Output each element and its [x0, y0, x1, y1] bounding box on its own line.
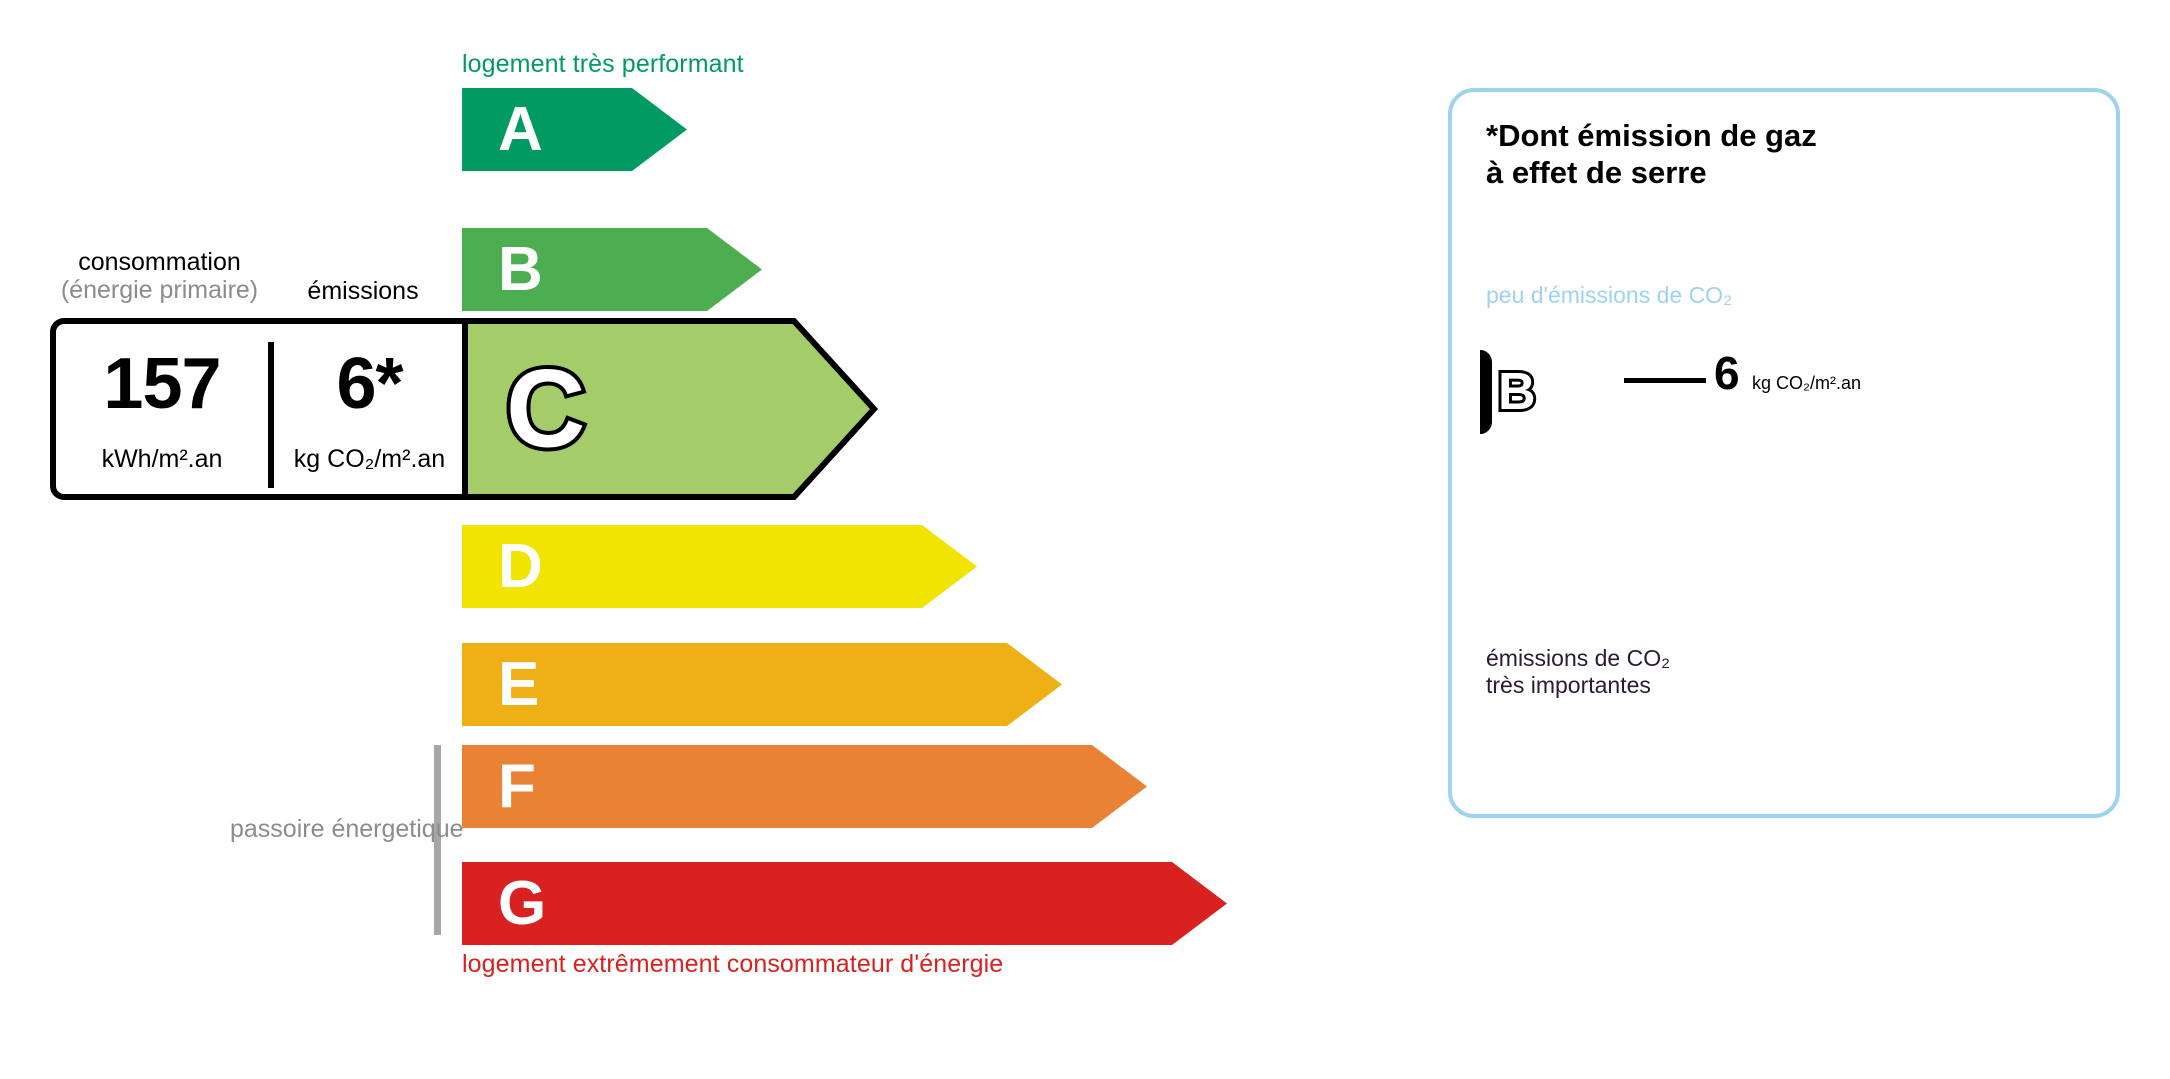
co2-class-bar-g: G	[1486, 602, 1858, 646]
passoire-label: passoire énergetique	[230, 815, 415, 843]
energy-class-letter-e: E	[498, 654, 539, 716]
emission-value-cell: 6* kg CO₂/m².an	[268, 324, 471, 494]
energy-class-letter-f: F	[498, 756, 536, 818]
co2-class-letter-g: G	[1498, 607, 1524, 641]
co2-panel-title: *Dont émission de gaz à effet de serre	[1486, 118, 1817, 191]
current-class-letter: C	[506, 346, 585, 473]
value-box: 157 kWh/m².an 6* kg CO₂/m².an	[50, 318, 465, 500]
co2-class-bar-e: E	[1486, 506, 1774, 550]
co2-class-bar-f: F	[1486, 554, 1816, 598]
energy-class-bar-a: A	[462, 88, 687, 171]
co2-class-bar-c: C	[1486, 410, 1682, 454]
co2-top-label: peu d'émissions de CO₂	[1486, 282, 1732, 309]
arrow-shape-icon	[462, 745, 1147, 828]
scale-top-label: logement très performant	[462, 50, 744, 79]
consumption-header-sub: (énergie primaire)	[52, 276, 267, 304]
co2-class-letter-e: E	[1498, 511, 1521, 545]
energy-class-bar-b: B	[462, 228, 762, 311]
arrow-shape-icon	[462, 862, 1227, 945]
energy-class-bar-g: G	[462, 862, 1227, 945]
arrow-shape-icon	[462, 88, 687, 171]
consumption-unit: kWh/m².an	[56, 447, 268, 472]
emission-unit: kg CO₂/m².an	[268, 447, 471, 472]
co2-class-letter-c: C	[1498, 415, 1523, 449]
energy-class-bar-d: D	[462, 525, 977, 608]
energy-class-letter-b: B	[498, 239, 543, 301]
co2-leader-line	[1624, 378, 1706, 383]
current-class-row: 157 kWh/m².an 6* kg CO₂/m².an C	[50, 318, 880, 500]
consumption-header-main: consommation	[78, 248, 241, 276]
co2-emissions-panel: *Dont émission de gaz à effet de serre p…	[1448, 88, 2120, 818]
scale-bottom-label: logement extrêmement consommateur d'éner…	[462, 950, 1003, 979]
current-class-arrow: C	[462, 318, 880, 500]
energy-performance-scale: logement très performant ABDEFG 157 kWh/…	[0, 0, 1400, 1079]
consumption-value-cell: 157 kWh/m².an	[56, 324, 268, 494]
co2-value: 6	[1714, 350, 1740, 396]
co2-class-bar-d: D	[1486, 458, 1726, 502]
co2-class-letter-a: A	[1498, 319, 1523, 353]
energy-class-letter-a: A	[498, 99, 543, 161]
co2-class-letter-d: D	[1498, 463, 1523, 497]
consumption-header-label: consommation (énergie primaire)	[52, 248, 267, 304]
energy-class-bar-f: F	[462, 745, 1147, 828]
co2-bottom-label: émissions de CO₂ très importantes	[1486, 645, 1670, 699]
emissions-header-label: émissions	[298, 277, 428, 305]
energy-class-letter-g: G	[498, 873, 546, 935]
emission-number: 6*	[268, 348, 471, 420]
co2-value-unit: kg CO₂/m².an	[1752, 374, 1861, 392]
energy-class-bar-e: E	[462, 643, 1062, 726]
co2-class-letter-f: F	[1498, 559, 1519, 593]
arrow-shape-icon	[462, 643, 1062, 726]
energy-class-letter-d: D	[498, 536, 543, 598]
consumption-number: 157	[56, 348, 268, 420]
